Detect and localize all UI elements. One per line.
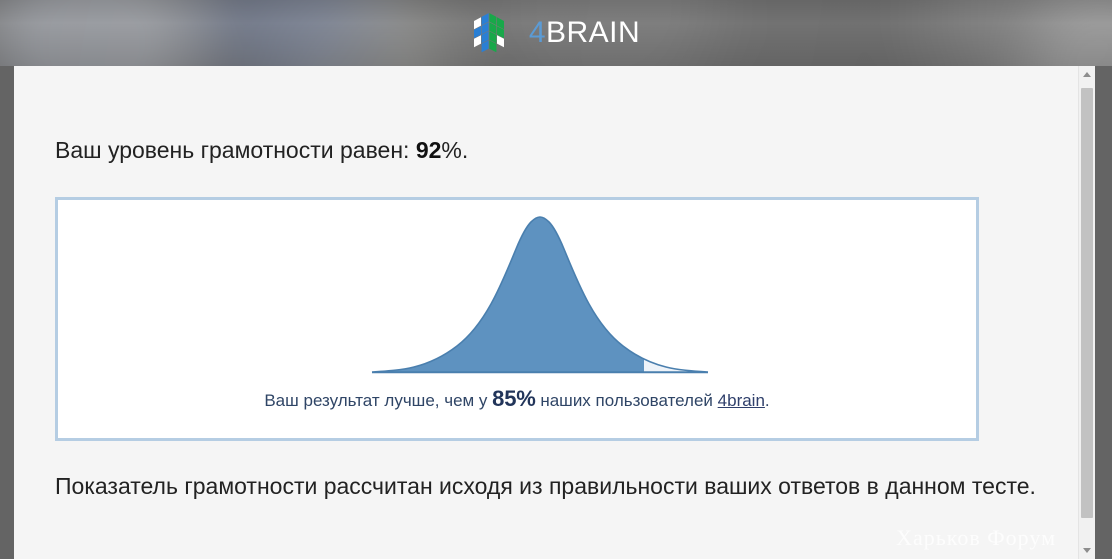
chevron-up-icon (1083, 72, 1091, 77)
literacy-score-prefix: Ваш уровень грамотности равен: (55, 137, 416, 163)
forum-watermark: Харьков Форум (896, 525, 1056, 551)
percentile-caption: Ваш результат лучше, чем у 85% наших пол… (58, 386, 976, 412)
vertical-scrollbar[interactable] (1078, 66, 1095, 559)
site-header-banner: 4BRAIN (0, 0, 1112, 66)
bell-curve-chart (58, 204, 976, 379)
browser-viewport: 4BRAIN Ваш уровень грамотности равен: 92… (0, 0, 1112, 559)
caption-middle: наших пользователей (536, 391, 718, 410)
chart-filled-region (372, 217, 708, 372)
percentile-chart-card: Ваш результат лучше, чем у 85% наших пол… (55, 197, 979, 441)
scroll-up-button[interactable] (1079, 66, 1095, 83)
literacy-score-suffix: %. (441, 137, 468, 163)
page-content-panel: Ваш уровень грамотности равен: 92%. (14, 66, 1095, 559)
rubiks-cube-icon (472, 10, 516, 56)
scrollbar-thumb[interactable] (1081, 88, 1093, 518)
wordmark-prefix: 4 (529, 16, 546, 49)
caption-prefix: Ваш результат лучше, чем у (264, 391, 492, 410)
caption-suffix: . (765, 391, 770, 410)
wordmark-suffix: BRAIN (546, 16, 640, 49)
scroll-down-button[interactable] (1079, 542, 1095, 559)
literacy-score-line: Ваш уровень грамотности равен: 92%. (55, 136, 468, 165)
result-page-content: Ваш уровень грамотности равен: 92%. (14, 66, 1080, 559)
literacy-score-value: 92 (416, 137, 442, 163)
site-wordmark: 4BRAIN (529, 18, 640, 48)
chevron-down-icon (1083, 548, 1091, 553)
site-logo[interactable]: 4BRAIN (0, 0, 1112, 66)
caption-percentile-value: 85% (492, 386, 535, 411)
brand-link[interactable]: 4brain (718, 391, 765, 410)
explanation-paragraph: Показатель грамотности рассчитан исходя … (55, 468, 1045, 504)
